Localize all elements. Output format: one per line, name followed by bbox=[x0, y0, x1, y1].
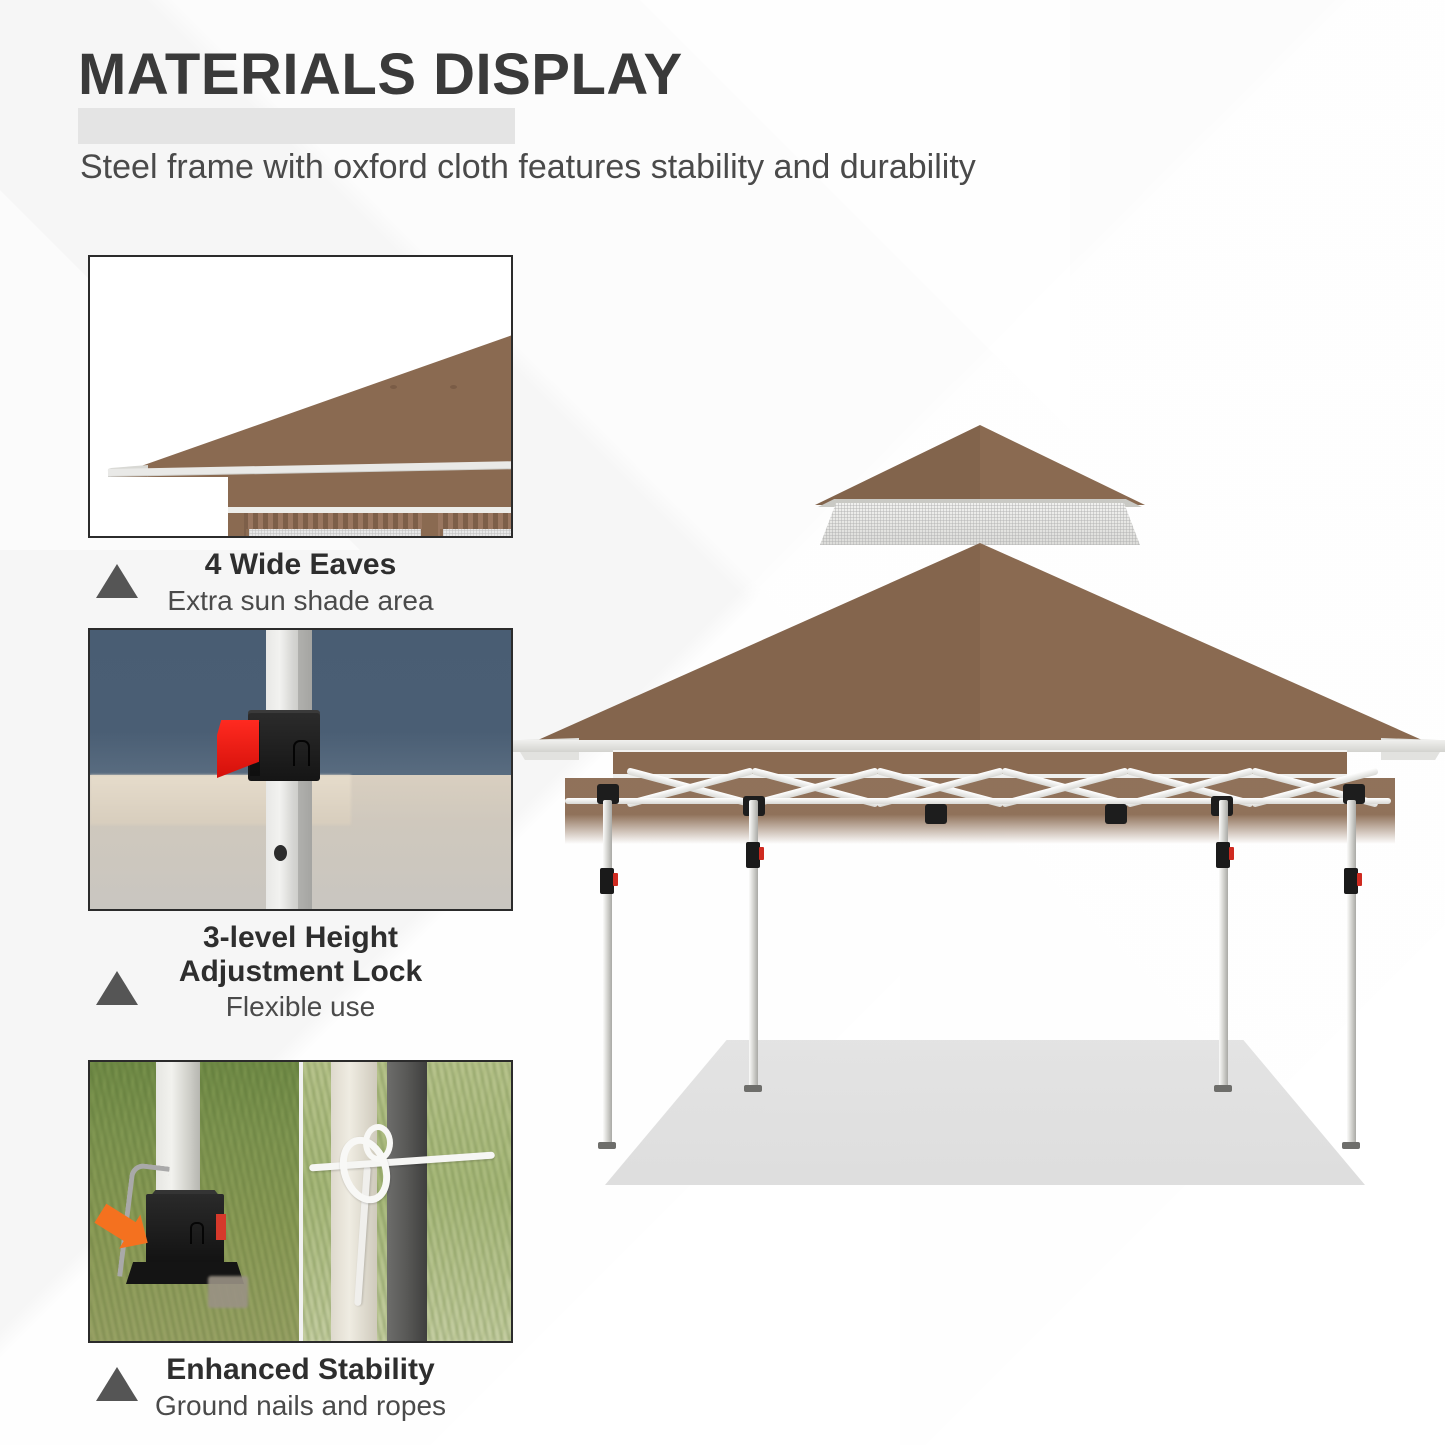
eave-corner-post bbox=[228, 513, 244, 538]
triangle-up-icon bbox=[96, 1367, 138, 1401]
feature-subtitle: Flexible use bbox=[88, 990, 513, 1024]
frame-rail bbox=[565, 798, 1391, 804]
photo-left-ground-stake bbox=[90, 1062, 301, 1341]
canopy-grommet-icon bbox=[450, 385, 457, 389]
lock-red-lever bbox=[216, 1214, 226, 1240]
triangle-up-icon bbox=[96, 971, 138, 1005]
canopy-vent-mesh bbox=[820, 503, 1140, 545]
feature-card-height-adjustment-lock: 3-level Height Adjustment Lock Flexible … bbox=[88, 628, 513, 1024]
feature-title: Enhanced Stability bbox=[88, 1353, 513, 1387]
feature-title-line-1: 3-level Height bbox=[88, 921, 513, 955]
feature-caption-enhanced-stability: Enhanced Stability Ground nails and rope… bbox=[88, 1353, 513, 1422]
triangle-up-icon bbox=[96, 564, 138, 598]
title-highlight-bar bbox=[78, 108, 515, 144]
background-wedge-top bbox=[640, 0, 1070, 430]
leg-adjustment-hole bbox=[274, 845, 287, 861]
ground-patch bbox=[208, 1276, 248, 1308]
lock-slot-icon bbox=[293, 740, 310, 766]
canopy-grommet-icon bbox=[390, 385, 397, 389]
photo-right-rope-tie bbox=[301, 1062, 512, 1341]
gazebo-leg bbox=[1347, 800, 1356, 1145]
leg-height-lock bbox=[1216, 842, 1230, 868]
eave-mesh-panel bbox=[440, 529, 513, 538]
feature-card-enhanced-stability: Enhanced Stability Ground nails and rope… bbox=[88, 1060, 513, 1422]
leg-height-lock bbox=[746, 842, 760, 868]
leg-foot bbox=[1214, 1085, 1232, 1092]
feature-subtitle: Extra sun shade area bbox=[88, 584, 513, 618]
feature-title-line-2: Adjustment Lock bbox=[88, 955, 513, 989]
page-title: MATERIALS DISPLAY bbox=[78, 45, 683, 106]
feature-subtitle: Ground nails and ropes bbox=[88, 1389, 513, 1423]
leg-height-lock bbox=[1344, 868, 1358, 894]
eave-valance bbox=[228, 475, 513, 509]
feature-caption-height-adjustment-lock: 3-level Height Adjustment Lock Flexible … bbox=[88, 921, 513, 1024]
canopy-top-tier-shade bbox=[815, 425, 980, 505]
leg-foot bbox=[598, 1142, 616, 1149]
feature-image-height-adjustment-lock bbox=[88, 628, 513, 911]
product-illustration-gazebo bbox=[505, 400, 1435, 1180]
page-subtitle: Steel frame with oxford cloth features s… bbox=[80, 148, 976, 187]
frame-connector bbox=[925, 804, 947, 824]
gazebo-leg-pole-shadowed bbox=[387, 1062, 427, 1341]
leg-foot-base bbox=[146, 1194, 224, 1270]
gazebo-floor-shadow bbox=[605, 1040, 1365, 1185]
frame-connector bbox=[1105, 804, 1127, 824]
feature-image-enhanced-stability bbox=[88, 1060, 513, 1343]
canopy-main-tier-shade bbox=[520, 543, 980, 748]
eave-mesh-panel bbox=[246, 529, 424, 538]
eave-corner-post bbox=[422, 513, 438, 538]
feature-caption-wide-eaves: 4 Wide Eaves Extra sun shade area bbox=[88, 548, 513, 617]
eave-canopy-shape bbox=[110, 287, 513, 477]
photo-split-divider bbox=[299, 1062, 303, 1341]
feature-card-wide-eaves: 4 Wide Eaves Extra sun shade area bbox=[88, 255, 513, 617]
infographic-page: MATERIALS DISPLAY Steel frame with oxfor… bbox=[0, 0, 1445, 1445]
leg-foot bbox=[1342, 1142, 1360, 1149]
lock-slot-icon bbox=[190, 1222, 204, 1244]
leg-height-lock bbox=[600, 868, 614, 894]
leg-foot bbox=[744, 1085, 762, 1092]
gazebo-leg bbox=[603, 800, 612, 1145]
feature-image-wide-eaves bbox=[88, 255, 513, 538]
feature-title: 4 Wide Eaves bbox=[88, 548, 513, 582]
rope-loop bbox=[363, 1124, 393, 1162]
